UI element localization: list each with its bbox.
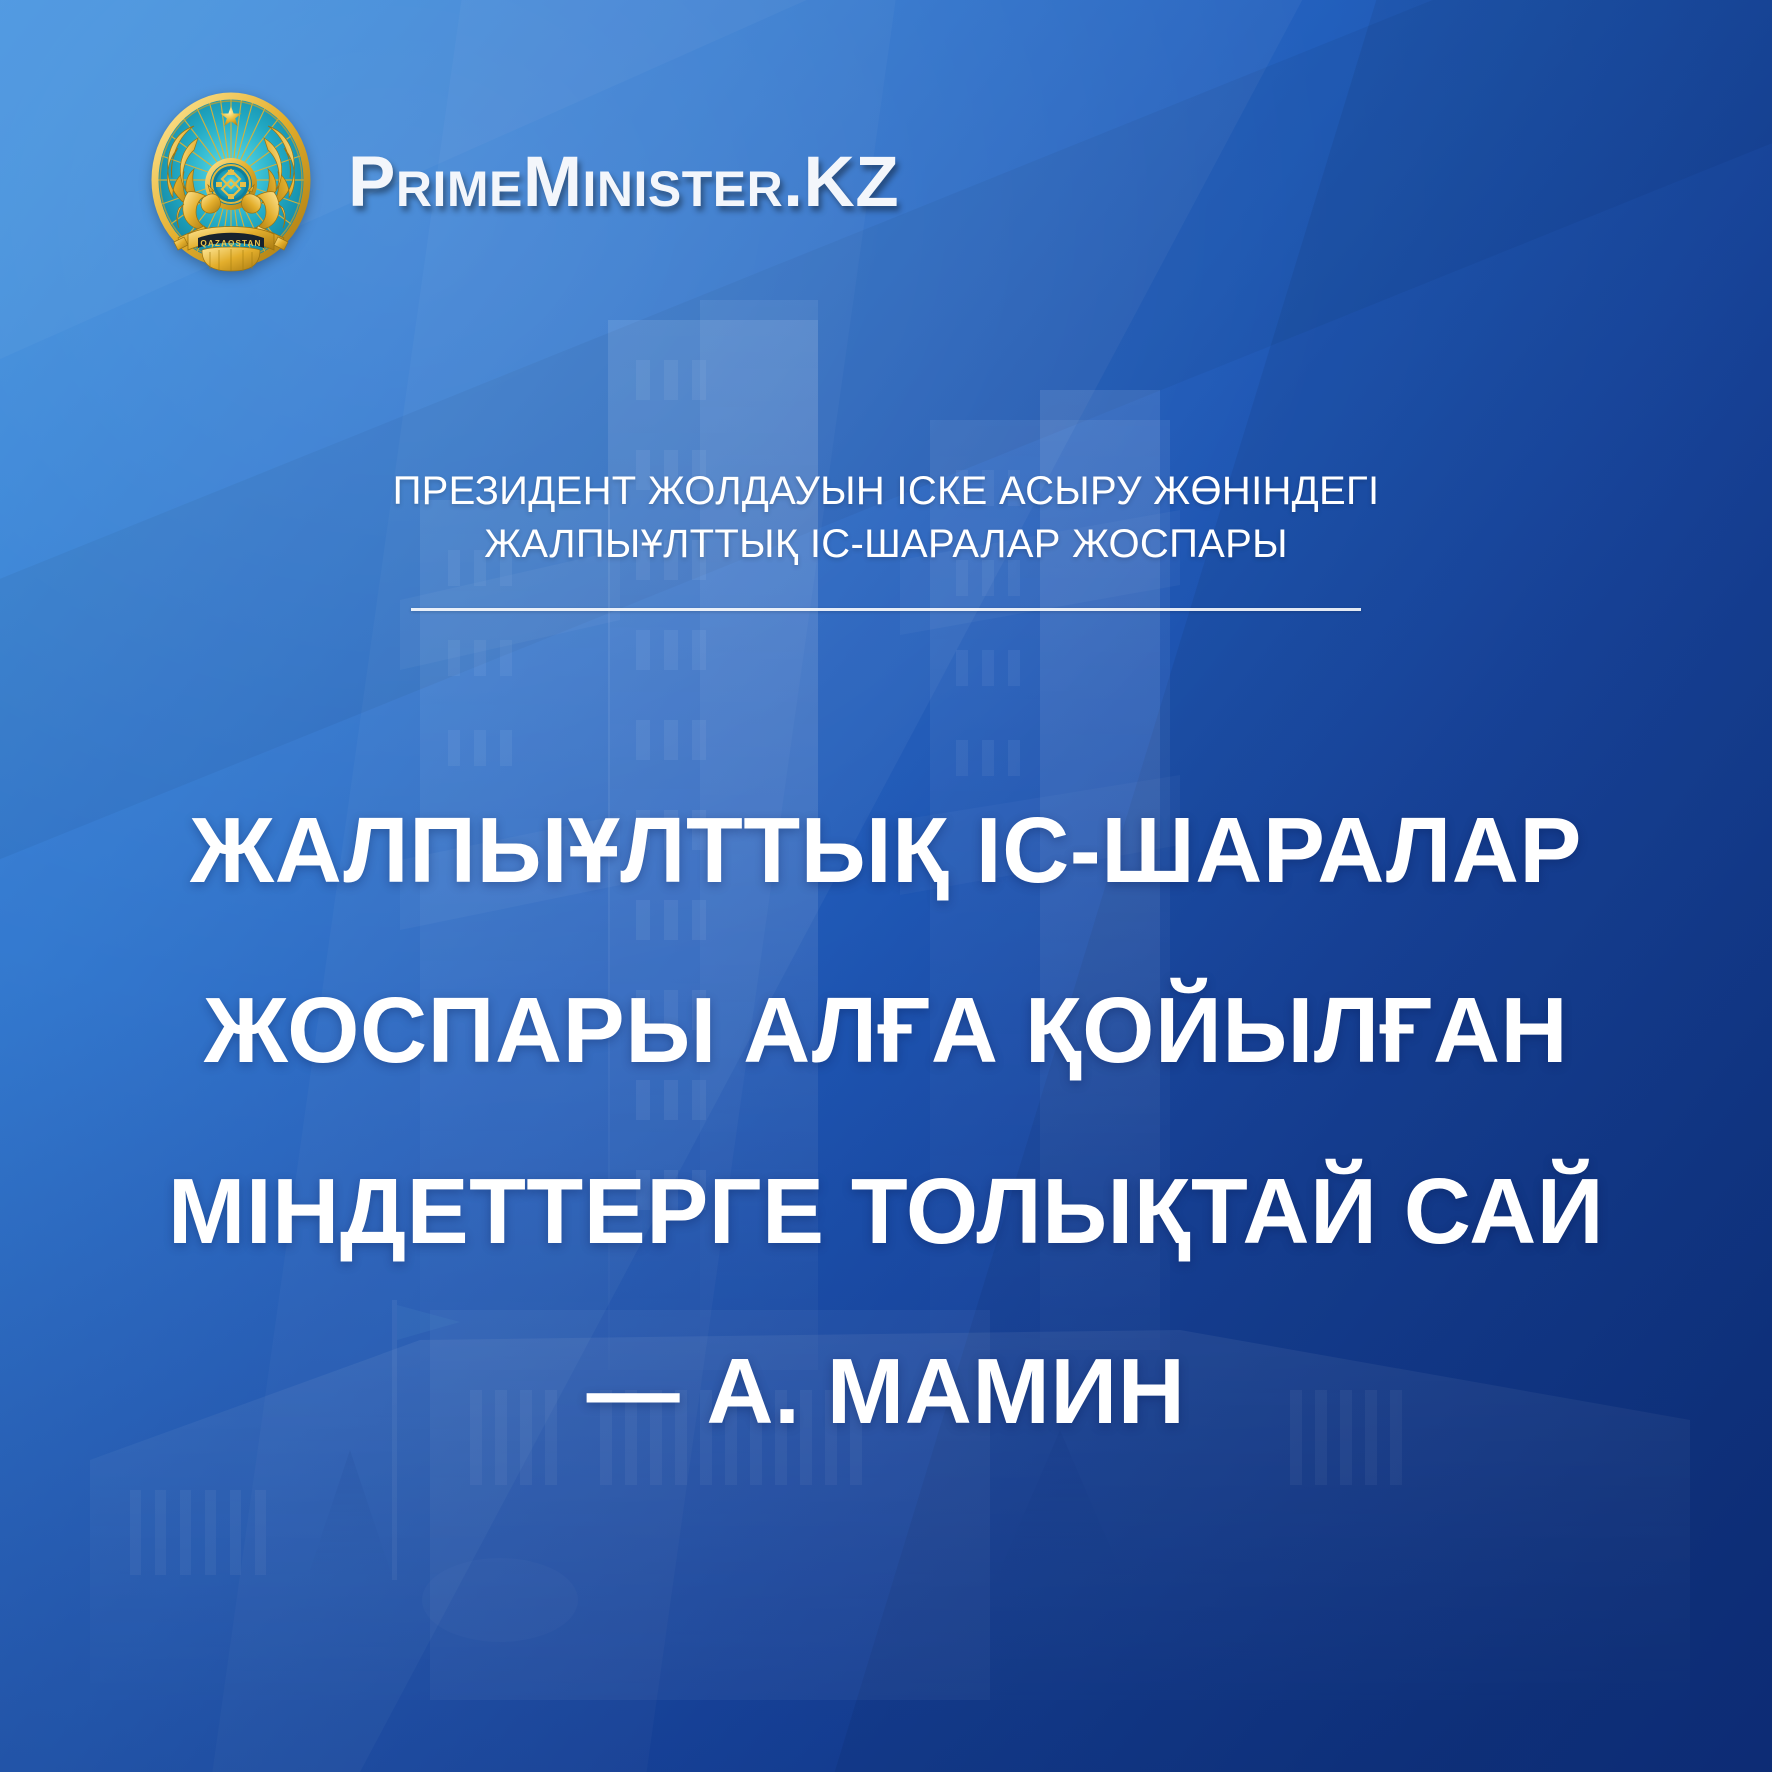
headline-line-2: ЖОСПАРЫ АЛҒА ҚОЙЫЛҒАН xyxy=(106,940,1666,1120)
headline-line-1: ЖАЛПЫҰЛТТЫҚ ІС-ШАРАЛАР xyxy=(106,760,1666,940)
brand-part-rime: rime xyxy=(396,143,523,222)
brand-wordmark[interactable]: PrimeMinister.KZ xyxy=(348,147,899,218)
brand-part-inister: inister xyxy=(583,143,784,222)
brand-part-m: M xyxy=(523,143,583,222)
headline-line-3: МІНДЕТТЕРГЕ ТОЛЫҚТАЙ САЙ xyxy=(106,1121,1666,1301)
eyebrow-line-2: ЖАЛПЫҰЛТТЫҚ ІС-ШАРАЛАР ЖОСПАРЫ xyxy=(296,518,1476,571)
eyebrow-line-1: ПРЕЗИДЕНТ ЖОЛДАУЫН ІСКЕ АСЫРУ ЖӨНІНДЕГІ xyxy=(296,465,1476,518)
brand-part-kz: .KZ xyxy=(783,143,899,222)
kazakhstan-state-emblem-icon: QAZAQSTAN xyxy=(148,92,314,272)
site-header: QAZAQSTAN PrimeMinister.KZ xyxy=(148,92,899,272)
brand-part-p: P xyxy=(348,143,396,222)
headline-line-4: — А. МАМИН xyxy=(106,1301,1666,1481)
headline: ЖАЛПЫҰЛТТЫҚ ІС-ШАРАЛАР ЖОСПАРЫ АЛҒА ҚОЙЫ… xyxy=(106,760,1666,1482)
poster-canvas: QAZAQSTAN PrimeMinister.KZ ПРЕЗИДЕНТ ЖОЛ… xyxy=(0,0,1772,1772)
horizontal-divider xyxy=(411,608,1361,611)
eyebrow-caption: ПРЕЗИДЕНТ ЖОЛДАУЫН ІСКЕ АСЫРУ ЖӨНІНДЕГІ … xyxy=(296,465,1476,571)
